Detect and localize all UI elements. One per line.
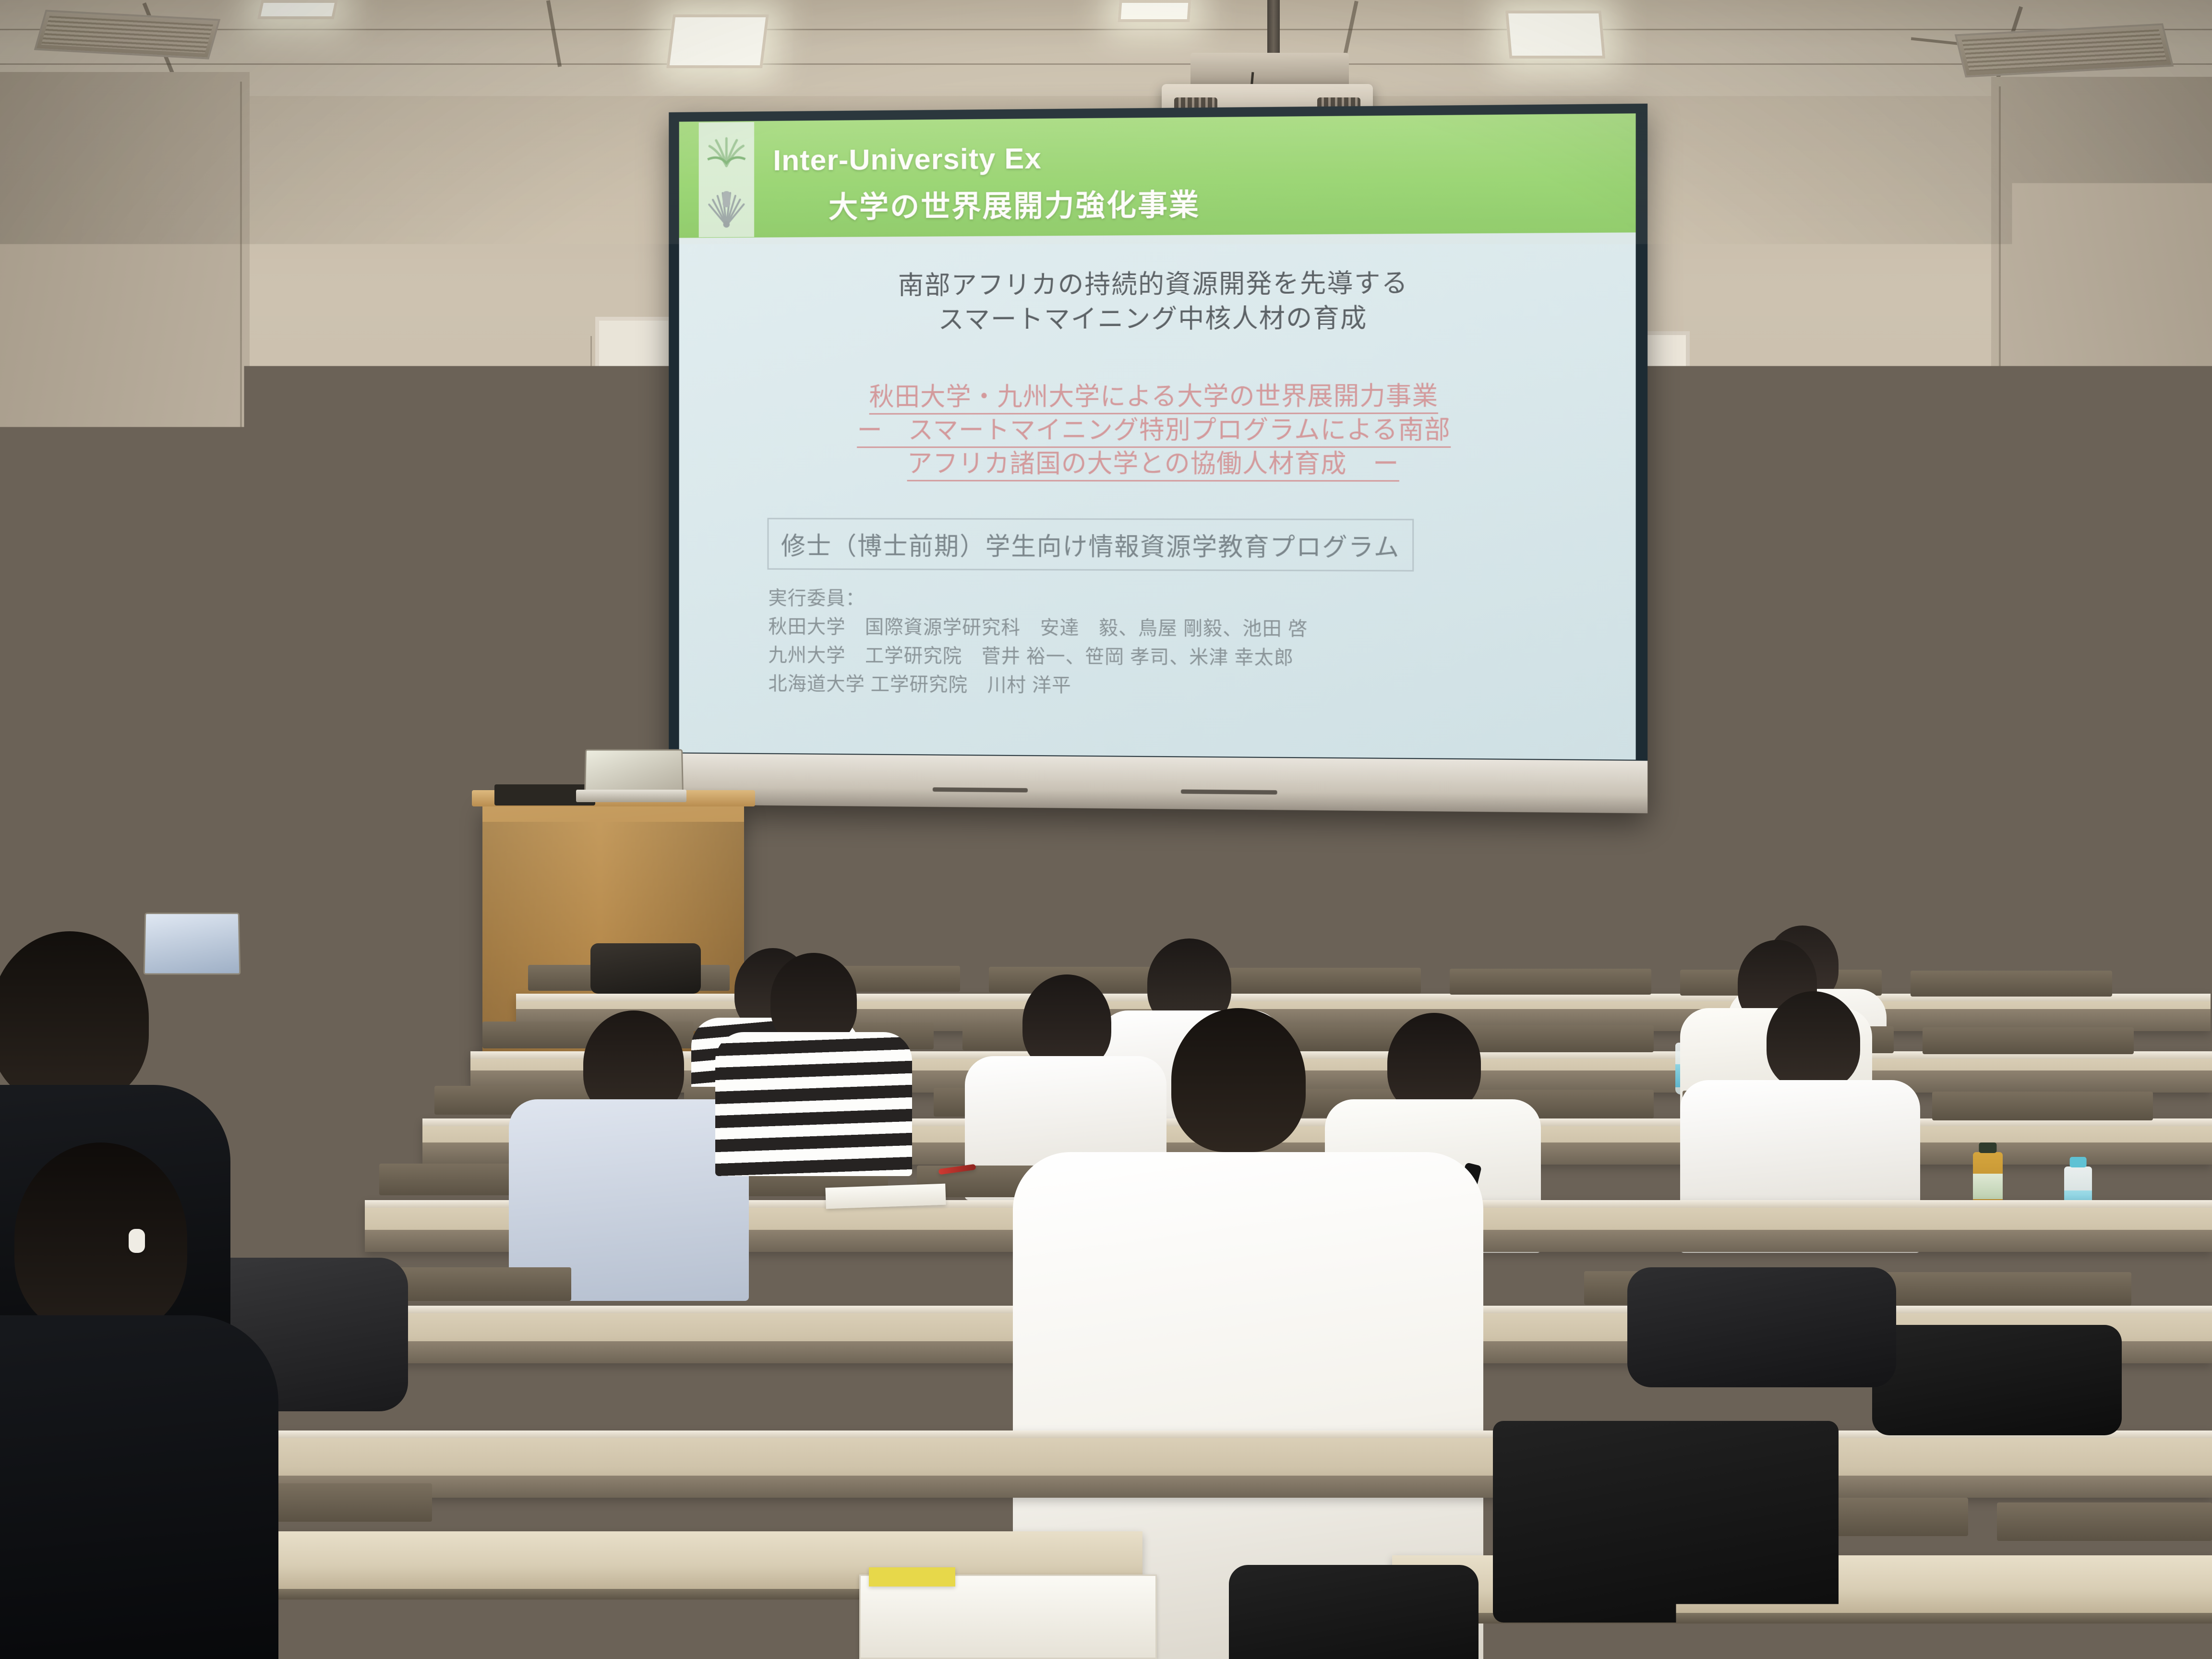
- face-mask-icon: [411, 582, 465, 608]
- slide-body: 南部アフリカの持続的資源開発を先導する スマートマイニング中核人材の育成 秋田大…: [679, 232, 1636, 759]
- seat-back: [1450, 969, 1651, 995]
- wireless-mic-antenna: [301, 720, 305, 809]
- handout-paper[interactable]: [825, 1184, 946, 1209]
- wall-outlet[interactable]: [1476, 938, 1496, 968]
- projector-mount-rod: [1267, 0, 1280, 58]
- handout-paper[interactable]: [869, 1567, 955, 1587]
- ceiling-light: [1505, 11, 1606, 59]
- slide-committee-row: 九州大学 工学研究院 菅井 裕一、笹岡 孝司、米津 幸太郎: [768, 641, 1294, 673]
- attendee-laptop[interactable]: [144, 913, 241, 974]
- handout-paper[interactable]: [859, 1575, 1157, 1659]
- rack-unit[interactable]: [261, 882, 411, 902]
- chalk-eraser: [1896, 910, 1959, 920]
- seat-back: [1219, 968, 1421, 994]
- slide-red-line-2: ー スマートマイニング特別プログラムによる南部: [679, 413, 1636, 448]
- slide-committee-row: 北海道大学 工学研究院 川村 洋平: [768, 670, 1071, 700]
- rack-unit[interactable]: [261, 954, 411, 975]
- backpack[interactable]: [1627, 1267, 1896, 1387]
- mask-required-sign: マスク着用 Wearing Recommended: [390, 570, 486, 645]
- screen-bottom-rail: [669, 753, 1647, 813]
- ceiling-light: [257, 0, 338, 19]
- desk-row: [202, 1431, 2212, 1498]
- audience-head: [1387, 1013, 1481, 1114]
- shoulder-bag[interactable]: [1229, 1565, 1479, 1659]
- seat-back: [1872, 1272, 2131, 1306]
- audience-head: [0, 931, 149, 1104]
- lanyard-name-badge: [553, 742, 592, 791]
- seat-back: [1923, 1027, 2134, 1054]
- ceiling-light: [666, 14, 769, 68]
- projector-bracket: [1190, 53, 1349, 86]
- slide-banner-japanese-title: 大学の世界展開力強化事業: [829, 180, 1200, 226]
- slide-logos: [699, 119, 754, 238]
- rack-unit-player[interactable]: [261, 930, 411, 948]
- akita-university-book-logo: [699, 122, 754, 180]
- backpack[interactable]: [1503, 1421, 1839, 1623]
- slide-red-line-1: 秋田大学・九州大学による大学の世界展開力事業: [679, 379, 1636, 415]
- handheld-microphone[interactable]: [552, 644, 567, 688]
- eyeglasses-icon: [537, 586, 590, 598]
- slide-committee-row: 秋田大学 国際資源学研究科 安達 毅、鳥屋 剛毅、池田 啓: [768, 613, 1308, 644]
- audience-head: [14, 1142, 187, 1334]
- earbud: [129, 1229, 145, 1253]
- audience-body: [0, 1315, 278, 1659]
- chalk-eraser: [1963, 910, 2016, 920]
- mask-sign-japanese: マスク着用: [410, 612, 466, 626]
- projected-slide: Inter-University Ex 大学の世界展開力強化事業 南部アフリカの…: [679, 113, 1636, 759]
- rack-unit[interactable]: [261, 822, 411, 829]
- slide-banner-english-title: Inter-University Ex: [773, 142, 1041, 178]
- wall-outlet[interactable]: [403, 720, 425, 750]
- desk-leg: [283, 1004, 292, 1091]
- rack-cable: [406, 864, 409, 1066]
- audience-head: [1767, 991, 1860, 1090]
- rack-unit-amplifier[interactable]: [261, 837, 411, 876]
- audience-body: [715, 1032, 912, 1176]
- laptop-bag[interactable]: [590, 943, 701, 994]
- sunburst-emblem-logo: [699, 180, 754, 237]
- slide-title-line-1: 南部アフリカの持続的資源開発を先導する: [679, 265, 1636, 304]
- seat-back: [1911, 971, 2112, 997]
- slide-program-box: 修士（博士前期）学生向け情報資源学教育プログラム: [767, 518, 1414, 572]
- shoulder-bag[interactable]: [1872, 1325, 2122, 1435]
- audience-head: [1171, 1008, 1306, 1152]
- lecture-hall-scene: Inter-University Ex 大学の世界展開力強化事業 南部アフリカの…: [0, 0, 2212, 1659]
- chalkboard: [1887, 643, 2212, 922]
- slide-title-line-2: スマートマイニング中核人材の育成: [679, 301, 1636, 338]
- rack-unit[interactable]: [261, 906, 411, 925]
- device-on-rack: [307, 778, 398, 805]
- av-equipment-rack: [254, 810, 418, 1079]
- ceiling-light: [1118, 0, 1191, 22]
- seat-back: [1932, 1092, 2153, 1120]
- slide-banner: Inter-University Ex 大学の世界展開力強化事業: [679, 113, 1636, 238]
- wall-outlet[interactable]: [1805, 763, 1827, 795]
- slide-red-line-3: アフリカ諸国の大学との協働人材育成 ー: [679, 447, 1636, 481]
- projection-screen-frame: Inter-University Ex 大学の世界展開力強化事業 南部アフリカの…: [669, 104, 1647, 813]
- slide-committee-heading: 実行委員：: [768, 584, 865, 613]
- presenter-hair: [532, 545, 595, 591]
- fire-extinguisher-sign: 消火器: [1801, 855, 1858, 887]
- seat-back: [1997, 1503, 2212, 1541]
- mask-sign-english: Wearing Recommended: [407, 627, 469, 633]
